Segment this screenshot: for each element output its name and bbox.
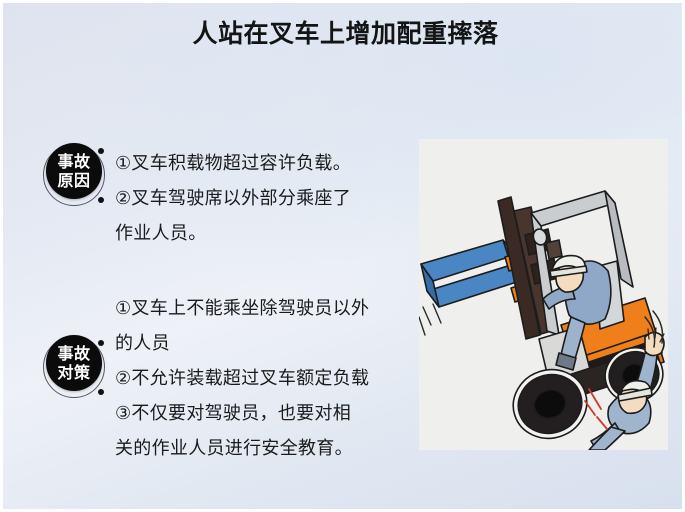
badge-dot-top-icon: [98, 340, 104, 346]
badge-accident-cause: 事故 原因: [41, 141, 109, 209]
accident-cause-text: ①叉车积载物超过容许负载。 ②叉车驾驶席以外部分乘座了 作业人员。: [115, 146, 415, 251]
forklift-illustration-svg: [419, 139, 668, 450]
badge-label-line1: 事故: [57, 152, 90, 171]
action-line: ①叉车上不能乘坐除驾驶员以外: [115, 291, 415, 326]
badge-accident-countermeasure: 事故 对策: [41, 333, 109, 401]
badge-dot-bottom-icon: [98, 197, 104, 203]
badge-label-line2: 对策: [57, 363, 90, 382]
action-line: ③不仅要对驾驶员，也要对相: [115, 396, 415, 431]
page-title: 人站在叉车上增加配重摔落: [3, 19, 685, 49]
badge-disc: 事故 对策: [46, 335, 102, 391]
cause-line: ②叉车驾驶席以外部分乘座了: [115, 181, 415, 216]
badge-label-line1: 事故: [57, 344, 90, 363]
cause-line: 作业人员。: [115, 216, 415, 251]
cause-line: ①叉车积载物超过容许负载。: [115, 146, 415, 181]
accident-countermeasure-text: ①叉车上不能乘坐除驾驶员以外 的人员 ②不允许装载超过叉车额定负载 ③不仅要对驾…: [115, 291, 415, 466]
forklift-accident-illustration: [419, 139, 668, 450]
badge-label-line2: 原因: [57, 171, 90, 190]
action-line: ②不允许装载超过叉车额定负载: [115, 361, 415, 396]
action-line: 关的作业人员进行安全教育。: [115, 431, 415, 466]
badge-disc: 事故 原因: [46, 143, 102, 199]
action-line: 的人员: [115, 326, 415, 361]
badge-dot-top-icon: [98, 148, 104, 154]
title-text: 人站在叉车上增加配重摔落: [192, 19, 498, 49]
badge-dot-bottom-icon: [98, 389, 104, 395]
slide-root: 人站在叉车上增加配重摔落 事故 原因 事故 对策 ①叉车积载物超过容许负载。 ②…: [0, 0, 685, 512]
